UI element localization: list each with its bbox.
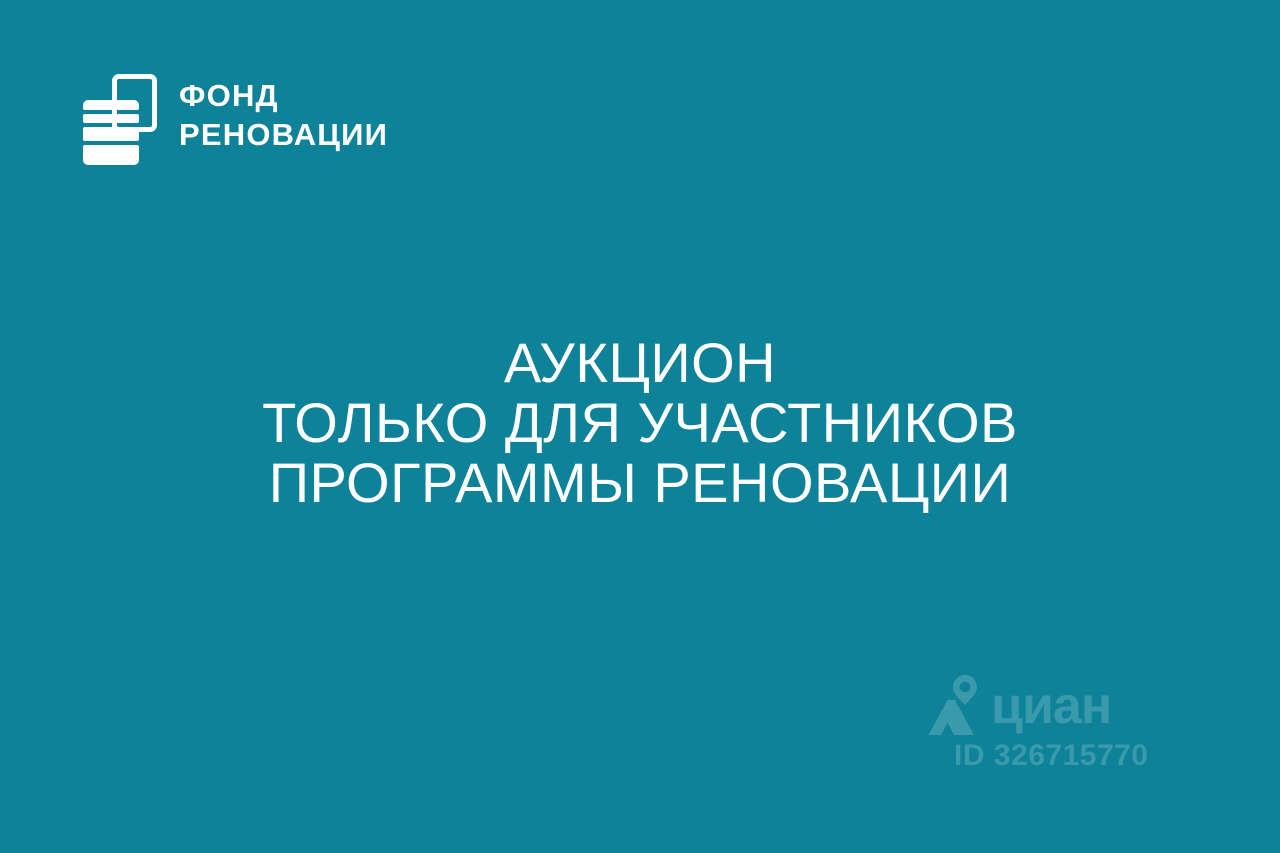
logo-bar-1 (83, 100, 139, 110)
logo-bar-3 (83, 127, 139, 141)
brand-logo: ФОНД РЕНОВАЦИИ (83, 74, 388, 156)
headline-line-1: АУКЦИОН (0, 333, 1280, 393)
brand-logo-line-1: ФОНД (179, 76, 388, 115)
logo-bar-2 (83, 114, 139, 123)
brand-logo-line-2: РЕНОВАЦИИ (179, 115, 388, 154)
fond-renovacii-logo-icon (83, 74, 157, 156)
headline-line-2: ТОЛЬКО ДЛЯ УЧАСТНИКОВ (0, 393, 1280, 453)
cian-wordmark: циан (991, 678, 1111, 734)
cian-pin-logo-icon (925, 673, 991, 735)
headline-line-3: ПРОГРАММЫ РЕНОВАЦИИ (0, 453, 1280, 513)
cian-watermark: циан ID 326715770 (925, 673, 1155, 773)
logo-bar-4 (83, 145, 139, 165)
cian-listing-id: ID 326715770 (954, 739, 1149, 773)
auction-banner: ФОНД РЕНОВАЦИИ АУКЦИОН ТОЛЬКО ДЛЯ УЧАСТН… (0, 0, 1280, 853)
brand-logo-text: ФОНД РЕНОВАЦИИ (179, 76, 388, 154)
cian-logo-row: циан (925, 673, 1155, 735)
page-title: АУКЦИОН ТОЛЬКО ДЛЯ УЧАСТНИКОВ ПРОГРАММЫ … (0, 333, 1280, 513)
logo-bar-stack-shape (83, 100, 139, 165)
